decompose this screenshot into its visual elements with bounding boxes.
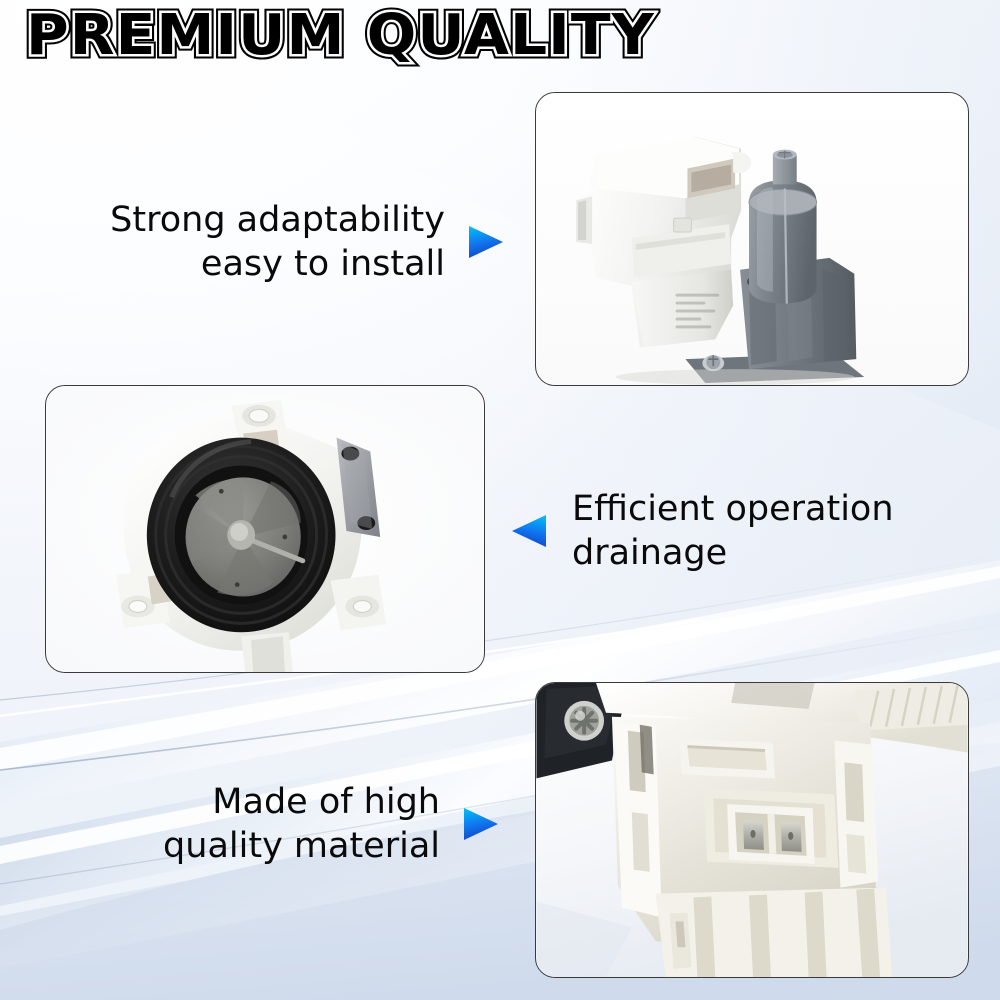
triangle-right-icon — [463, 220, 507, 264]
page-title-fill: PREMIUM QUALITY — [26, 4, 655, 68]
product-photo-impeller-housing — [46, 386, 484, 672]
product-feature-image: PREMIUM QUALITY PREMIUM QUALITY PREMIUM … — [0, 0, 1000, 1000]
product-photo-drain-pump-motor — [536, 93, 968, 385]
panel-drain-pump-motor — [535, 92, 969, 386]
callout-efficient-operation-text: Efficient operation drainage — [572, 487, 894, 575]
triangle-left-icon — [508, 509, 552, 553]
callout-efficient-operation: Efficient operation drainage — [508, 487, 978, 575]
callout-high-quality-material: Made of high quality material — [140, 780, 540, 868]
callout-high-quality-material-text: Made of high quality material — [140, 780, 440, 868]
panel-electrical-connector — [535, 682, 969, 978]
page-title: PREMIUM QUALITY PREMIUM QUALITY PREMIUM … — [26, 4, 666, 72]
panel-impeller-housing — [45, 385, 485, 673]
triangle-right-icon — [458, 802, 502, 846]
callout-strong-adaptability: Strong adaptability easy to install — [60, 198, 520, 286]
product-photo-electrical-connector — [536, 683, 968, 977]
callout-strong-adaptability-text: Strong adaptability easy to install — [60, 198, 445, 286]
